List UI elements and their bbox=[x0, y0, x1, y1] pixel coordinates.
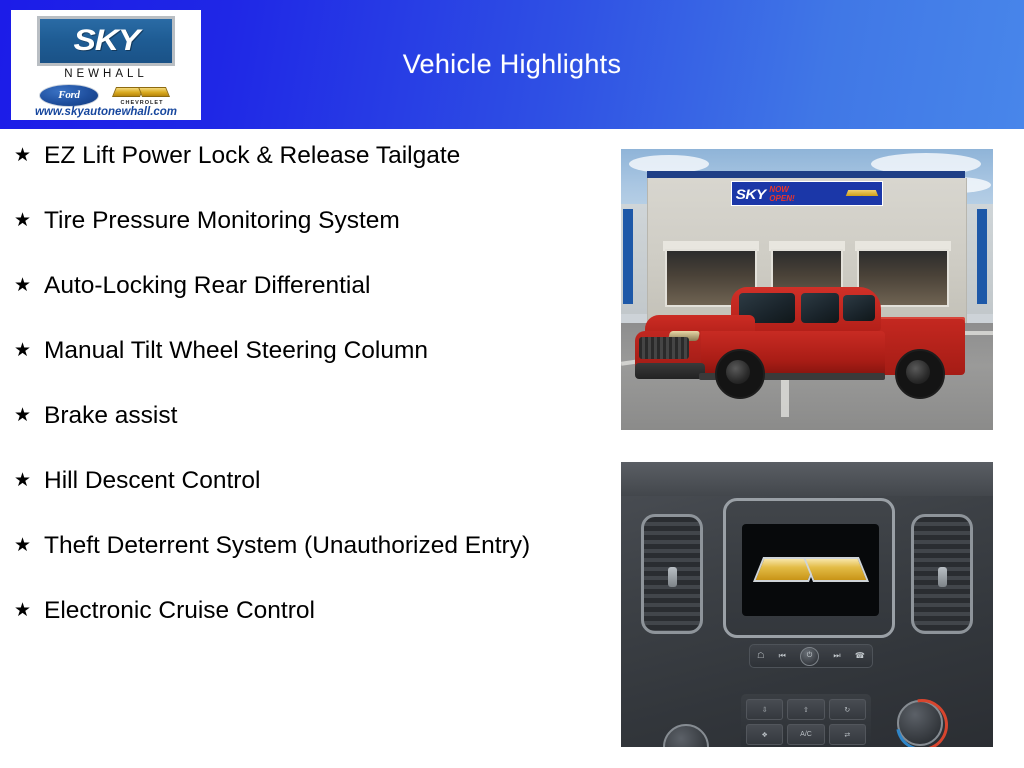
vent-knob-icon[interactable] bbox=[938, 567, 947, 587]
sky-badge: SKY bbox=[37, 16, 175, 66]
front-defrost-icon[interactable]: ⇧ bbox=[787, 699, 824, 720]
home-icon[interactable]: ☖ bbox=[757, 652, 764, 660]
front-bumper bbox=[635, 363, 705, 379]
list-item-label: Electronic Cruise Control bbox=[44, 594, 554, 628]
recirculate-icon[interactable]: ↻ bbox=[829, 699, 866, 720]
ford-logo-icon: Ford bbox=[39, 84, 99, 107]
temperature-knob-right[interactable] bbox=[897, 700, 943, 746]
sky-badge-label: SKY bbox=[73, 24, 139, 58]
star-icon: ★ bbox=[14, 334, 44, 368]
dealer-website-url[interactable]: www.skyautonewhall.com bbox=[11, 106, 201, 118]
rear-window bbox=[801, 293, 839, 323]
brand-logo-row: Ford CHEVROLET bbox=[11, 84, 201, 106]
star-icon: ★ bbox=[14, 594, 44, 628]
infotainment-screen[interactable] bbox=[742, 524, 879, 616]
silverado-truck bbox=[635, 287, 965, 397]
list-item-label: EZ Lift Power Lock & Release Tailgate bbox=[44, 139, 554, 173]
air-vent-left bbox=[641, 514, 703, 634]
rear-defrost-icon[interactable]: ⇩ bbox=[746, 699, 783, 720]
vent-knob-icon[interactable] bbox=[668, 567, 677, 587]
list-item: ★ EZ Lift Power Lock & Release Tailgate bbox=[0, 139, 600, 173]
vehicle-interior-photo[interactable]: ☖ ⏮ ⏻ ⏭ ☎ ⇩ ⇧ ↻ ❖ A/C ⇄ bbox=[621, 462, 993, 747]
star-icon: ★ bbox=[14, 529, 44, 563]
list-item: ★ Brake assist bbox=[0, 399, 600, 433]
previous-track-icon[interactable]: ⏮ bbox=[779, 652, 786, 660]
star-icon: ★ bbox=[14, 139, 44, 173]
power-knob-icon[interactable]: ⏻ bbox=[800, 647, 819, 666]
list-item: ★ Auto-Locking Rear Differential bbox=[0, 269, 600, 303]
list-item-label: Theft Deterrent System (Unauthorized Ent… bbox=[44, 529, 554, 563]
banner-sky-label: SKY bbox=[736, 186, 766, 202]
vehicle-exterior-photo[interactable]: SKY NOWOPEN! bbox=[621, 149, 993, 430]
list-item: ★ Hill Descent Control bbox=[0, 464, 600, 498]
front-wheel bbox=[715, 349, 765, 399]
bowtie-icon bbox=[847, 189, 877, 198]
sync-icon[interactable]: ⇄ bbox=[829, 724, 866, 745]
air-vent-right bbox=[911, 514, 973, 634]
front-grille bbox=[639, 337, 689, 359]
fan-icon[interactable]: ❖ bbox=[746, 724, 783, 745]
ac-icon[interactable]: A/C bbox=[787, 724, 824, 745]
chevrolet-logo-label: CHEVROLET bbox=[121, 100, 164, 106]
dealership-roofline bbox=[647, 171, 965, 178]
bowtie-icon bbox=[114, 85, 170, 99]
list-item-label: Auto-Locking Rear Differential bbox=[44, 269, 554, 303]
list-item-label: Tire Pressure Monitoring System bbox=[44, 204, 554, 238]
star-icon: ★ bbox=[14, 269, 44, 303]
dashboard-top-trim bbox=[621, 462, 993, 496]
list-item: ★ Manual Tilt Wheel Steering Column bbox=[0, 334, 600, 368]
list-item: ★ Tire Pressure Monitoring System bbox=[0, 204, 600, 238]
dealership-banner: SKY NOWOPEN! bbox=[731, 181, 883, 206]
blue-pillar bbox=[977, 209, 987, 304]
dealer-logo[interactable]: SKY NEWHALL Ford CHEVROLET www.skyautone… bbox=[11, 10, 201, 120]
next-track-icon[interactable]: ⏭ bbox=[833, 652, 840, 660]
climate-control-panel: ⇩ ⇧ ↻ ❖ A/C ⇄ bbox=[741, 694, 871, 747]
phone-icon[interactable]: ☎ bbox=[855, 652, 865, 660]
vehicle-highlights-list: ★ EZ Lift Power Lock & Release Tailgate … bbox=[0, 139, 600, 659]
star-icon: ★ bbox=[14, 204, 44, 238]
list-item: ★ Theft Deterrent System (Unauthorized E… bbox=[0, 529, 600, 563]
blue-pillar bbox=[623, 209, 633, 304]
list-item: ★ Electronic Cruise Control bbox=[0, 594, 600, 628]
dealer-city-label: NEWHALL bbox=[11, 68, 201, 80]
quarter-window bbox=[843, 295, 875, 321]
list-item-label: Brake assist bbox=[44, 399, 554, 433]
star-icon: ★ bbox=[14, 399, 44, 433]
star-icon: ★ bbox=[14, 464, 44, 498]
chevrolet-bowtie-icon bbox=[758, 553, 864, 587]
rear-wheel bbox=[895, 349, 945, 399]
list-item-label: Manual Tilt Wheel Steering Column bbox=[44, 334, 554, 368]
banner-now-open-label: NOWOPEN! bbox=[769, 185, 794, 203]
ford-logo-label: Ford bbox=[58, 89, 79, 101]
chevrolet-logo-icon: CHEVROLET bbox=[111, 85, 173, 106]
list-item-label: Hill Descent Control bbox=[44, 464, 554, 498]
infotainment-control-bar: ☖ ⏮ ⏻ ⏭ ☎ bbox=[749, 644, 873, 668]
